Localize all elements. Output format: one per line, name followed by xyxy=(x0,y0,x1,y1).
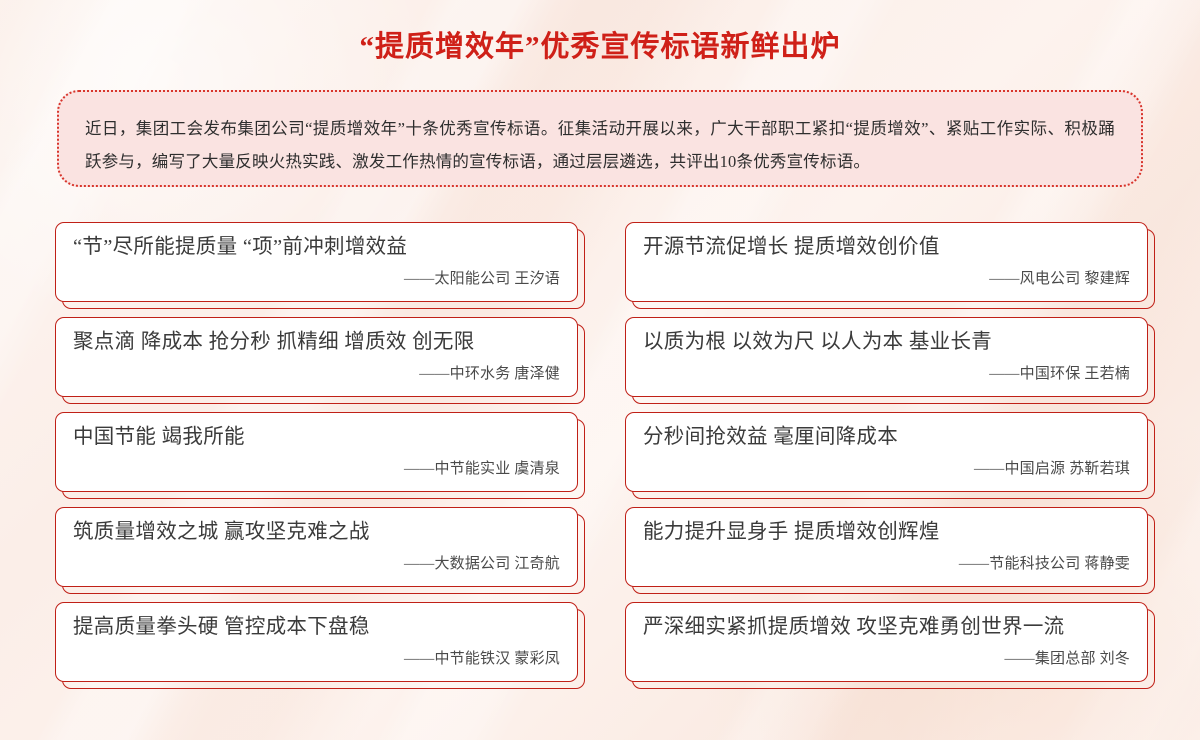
card-body[interactable]: 提高质量拳头硬 管控成本下盘稳 ——中节能铁汉 蒙彩凤 xyxy=(55,602,578,682)
slogan-card-5[interactable]: 中国节能 竭我所能 ——中节能实业 虞清泉 xyxy=(55,412,578,492)
slogan-author: ——风电公司 黎建辉 xyxy=(643,267,1130,288)
card-body[interactable]: 能力提升显身手 提质增效创辉煌 ——节能科技公司 蒋静雯 xyxy=(625,507,1148,587)
slogan-author: ——中环水务 唐泽健 xyxy=(73,362,560,383)
slogan-card-6[interactable]: 分秒间抢效益 毫厘间降成本 ——中国启源 苏靳若琪 xyxy=(625,412,1148,492)
slogan-text: 中国节能 竭我所能 xyxy=(73,424,560,452)
slogan-text: 提高质量拳头硬 管控成本下盘稳 xyxy=(73,614,560,642)
slogan-text: “节”尽所能提质量 “项”前冲刺增效益 xyxy=(73,234,560,262)
slogan-text: 筑质量增效之城 赢攻坚克难之战 xyxy=(73,519,560,547)
card-body[interactable]: 开源节流促增长 提质增效创价值 ——风电公司 黎建辉 xyxy=(625,222,1148,302)
card-body[interactable]: 中国节能 竭我所能 ——中节能实业 虞清泉 xyxy=(55,412,578,492)
slogan-card-8[interactable]: 能力提升显身手 提质增效创辉煌 ——节能科技公司 蒋静雯 xyxy=(625,507,1148,587)
poster-page: “提质增效年”优秀宣传标语新鲜出炉 近日，集团工会发布集团公司“提质增效年”十条… xyxy=(0,0,1200,740)
intro-paragraph: 近日，集团工会发布集团公司“提质增效年”十条优秀宣传标语。征集活动开展以来，广大… xyxy=(85,112,1115,178)
slogan-author: ——中国环保 王若楠 xyxy=(643,362,1130,383)
slogan-text: 严深细实紧抓提质增效 攻坚克难勇创世界一流 xyxy=(643,614,1130,642)
card-body[interactable]: 聚点滴 降成本 抢分秒 抓精细 增质效 创无限 ——中环水务 唐泽健 xyxy=(55,317,578,397)
slogan-text: 能力提升显身手 提质增效创辉煌 xyxy=(643,519,1130,547)
slogan-text: 开源节流促增长 提质增效创价值 xyxy=(643,234,1130,262)
slogan-author: ——中节能实业 虞清泉 xyxy=(73,457,560,478)
card-body[interactable]: 严深细实紧抓提质增效 攻坚克难勇创世界一流 ——集团总部 刘冬 xyxy=(625,602,1148,682)
slogan-card-1[interactable]: “节”尽所能提质量 “项”前冲刺增效益 ——太阳能公司 王汐语 xyxy=(55,222,578,302)
slogan-card-4[interactable]: 以质为根 以效为尺 以人为本 基业长青 ——中国环保 王若楠 xyxy=(625,317,1148,397)
slogan-author: ——中节能铁汉 蒙彩凤 xyxy=(73,647,560,668)
card-body[interactable]: 筑质量增效之城 赢攻坚克难之战 ——大数据公司 江奇航 xyxy=(55,507,578,587)
card-body[interactable]: 以质为根 以效为尺 以人为本 基业长青 ——中国环保 王若楠 xyxy=(625,317,1148,397)
slogan-author: ——节能科技公司 蒋静雯 xyxy=(643,552,1130,573)
card-body[interactable]: 分秒间抢效益 毫厘间降成本 ——中国启源 苏靳若琪 xyxy=(625,412,1148,492)
slogan-card-10[interactable]: 严深细实紧抓提质增效 攻坚克难勇创世界一流 ——集团总部 刘冬 xyxy=(625,602,1148,682)
slogan-author: ——大数据公司 江奇航 xyxy=(73,552,560,573)
slogan-card-grid: “节”尽所能提质量 “项”前冲刺增效益 ——太阳能公司 王汐语 开源节流促增长 … xyxy=(55,222,1148,682)
slogan-text: 以质为根 以效为尺 以人为本 基业长青 xyxy=(643,329,1130,357)
slogan-author: ——中国启源 苏靳若琪 xyxy=(643,457,1130,478)
intro-callout-box: 近日，集团工会发布集团公司“提质增效年”十条优秀宣传标语。征集活动开展以来，广大… xyxy=(57,90,1143,187)
slogan-card-3[interactable]: 聚点滴 降成本 抢分秒 抓精细 增质效 创无限 ——中环水务 唐泽健 xyxy=(55,317,578,397)
slogan-author: ——集团总部 刘冬 xyxy=(643,647,1130,668)
slogan-text: 分秒间抢效益 毫厘间降成本 xyxy=(643,424,1130,452)
slogan-text: 聚点滴 降成本 抢分秒 抓精细 增质效 创无限 xyxy=(73,329,560,357)
slogan-card-2[interactable]: 开源节流促增长 提质增效创价值 ——风电公司 黎建辉 xyxy=(625,222,1148,302)
page-title: “提质增效年”优秀宣传标语新鲜出炉 xyxy=(0,28,1200,67)
slogan-card-7[interactable]: 筑质量增效之城 赢攻坚克难之战 ——大数据公司 江奇航 xyxy=(55,507,578,587)
slogan-card-9[interactable]: 提高质量拳头硬 管控成本下盘稳 ——中节能铁汉 蒙彩凤 xyxy=(55,602,578,682)
card-body[interactable]: “节”尽所能提质量 “项”前冲刺增效益 ——太阳能公司 王汐语 xyxy=(55,222,578,302)
slogan-author: ——太阳能公司 王汐语 xyxy=(73,267,560,288)
